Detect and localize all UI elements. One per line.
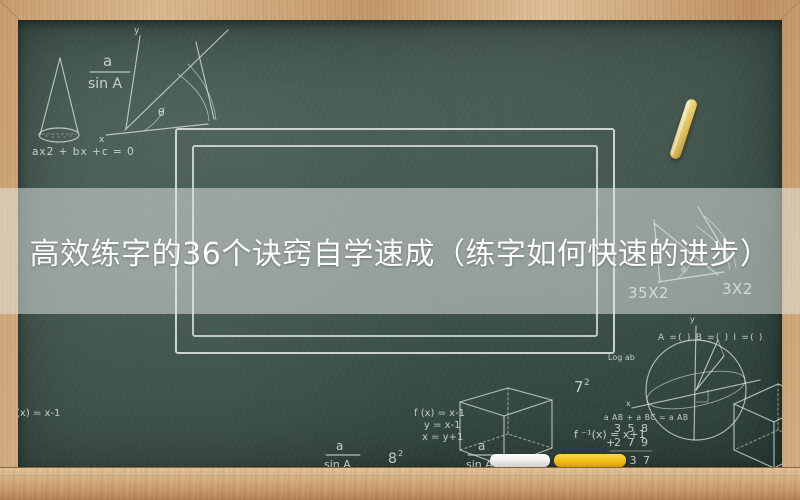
- screenshot-root: a sin A ax2 + bx +c = 0 y x: [0, 0, 800, 500]
- chalk-log-ab: Log ab: [608, 353, 635, 362]
- chalk-eight-squared: 8 2: [388, 449, 403, 467]
- page-title: 高效练字的36个诀窍自学速成（练字如何快速的进步）: [0, 188, 800, 314]
- chalk-quadratic-equation: ax2 + bx +c = 0: [32, 146, 135, 158]
- chalk-sphere-axis-y: y: [690, 315, 695, 324]
- chalk-ledge: [0, 467, 800, 500]
- chalk-partial-1: (x) = x-1: [18, 408, 60, 419]
- white-chalk-piece: [490, 454, 550, 467]
- chalk-seven-exponent: 2: [584, 378, 590, 388]
- yellow-chalk-piece: [554, 454, 626, 467]
- chalk-cone-drawing: [39, 58, 79, 142]
- chalk-fn-line-2: y = x-1: [424, 420, 461, 431]
- chalk-eight: 8: [388, 451, 397, 467]
- chalk-a-numerator-3: a: [478, 439, 485, 453]
- chalk-a-numerator-2: a: [336, 439, 343, 453]
- ledge-lip: [0, 474, 800, 476]
- chalk-axis-y-label: y: [134, 26, 140, 36]
- chalk-ab-bc-identity: a AB + a BC = a AB: [604, 413, 689, 422]
- chalk-bracket-row: A =( ) B =( ) I =( ): [658, 333, 764, 343]
- chalk-eight-exponent: 2: [398, 449, 403, 458]
- chalk-addend-1: 3 5 8: [614, 422, 650, 435]
- chalk-function-equations: f (x) = x-1 y = x-1 x = y+1: [414, 408, 465, 443]
- chalk-angle-theta-label: θ: [158, 106, 165, 119]
- chalk-fn-line-1: f (x) = x-1: [414, 408, 465, 419]
- chalk-fraction-a-over-sinA-2: a sin A: [324, 439, 360, 468]
- chalk-sinA-denominator: sin A: [88, 76, 123, 92]
- chalk-fraction-a-over-sinA-1: a sin A: [88, 52, 130, 92]
- chalk-fn-line-3: x = y+1: [422, 432, 463, 443]
- chalk-addend-2: 2 7 9: [614, 436, 650, 449]
- chalk-axis-x-label: x: [99, 135, 105, 145]
- chalk-seven-squared: 7 2: [574, 378, 590, 396]
- chalk-a-numerator: a: [103, 52, 112, 70]
- chalk-sphere-axis-x: x: [626, 399, 631, 408]
- chalk-seven: 7: [574, 378, 584, 396]
- chalk-cube-right: [734, 384, 782, 468]
- chalk-partial-equations-left: (x) = x-1: [18, 408, 60, 419]
